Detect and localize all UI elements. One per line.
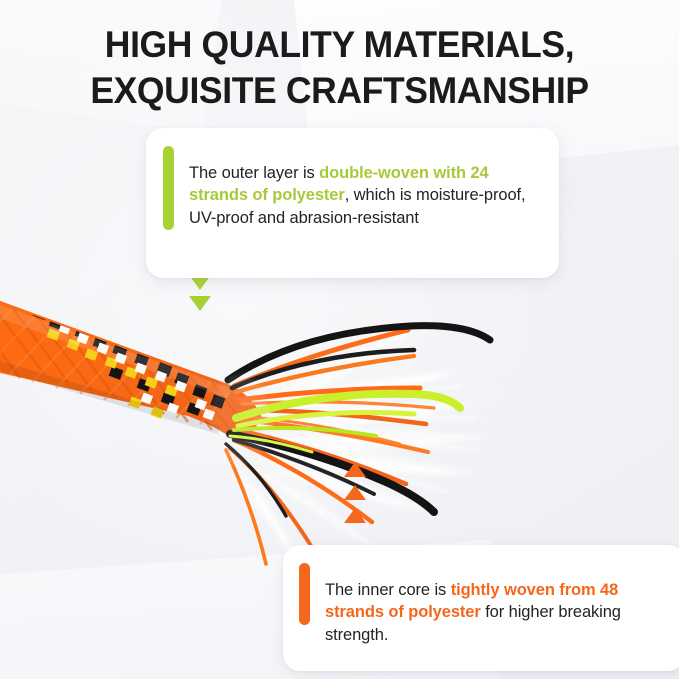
page-title-line-1: HIGH QUALITY MATERIALS, bbox=[14, 22, 666, 68]
accent-bar-orange bbox=[299, 563, 310, 625]
callout-text-outer-layer: The outer layer is double-woven with 24 … bbox=[189, 161, 545, 230]
callout-text-inner-core: The inner core is tightly woven from 48 … bbox=[325, 578, 671, 647]
callout-text-outer-before: The outer layer is bbox=[189, 164, 319, 182]
page-title: HIGH QUALITY MATERIALS, EXQUISITE CRAFTS… bbox=[0, 22, 679, 114]
arrow-stack-up-orange bbox=[344, 462, 366, 531]
triangle-down-icon bbox=[189, 296, 211, 311]
infographic-canvas: HIGH QUALITY MATERIALS, EXQUISITE CRAFTS… bbox=[0, 0, 679, 679]
triangle-up-icon bbox=[344, 462, 366, 477]
triangle-up-icon bbox=[344, 508, 366, 523]
accent-bar-green bbox=[163, 146, 174, 230]
callout-card-outer-layer: The outer layer is double-woven with 24 … bbox=[146, 128, 559, 278]
triangle-up-icon bbox=[344, 485, 366, 500]
callout-card-inner-core: The inner core is tightly woven from 48 … bbox=[283, 545, 679, 671]
page-title-line-2: EXQUISITE CRAFTSMANSHIP bbox=[14, 68, 666, 114]
callout-text-inner-before: The inner core is bbox=[325, 581, 451, 599]
